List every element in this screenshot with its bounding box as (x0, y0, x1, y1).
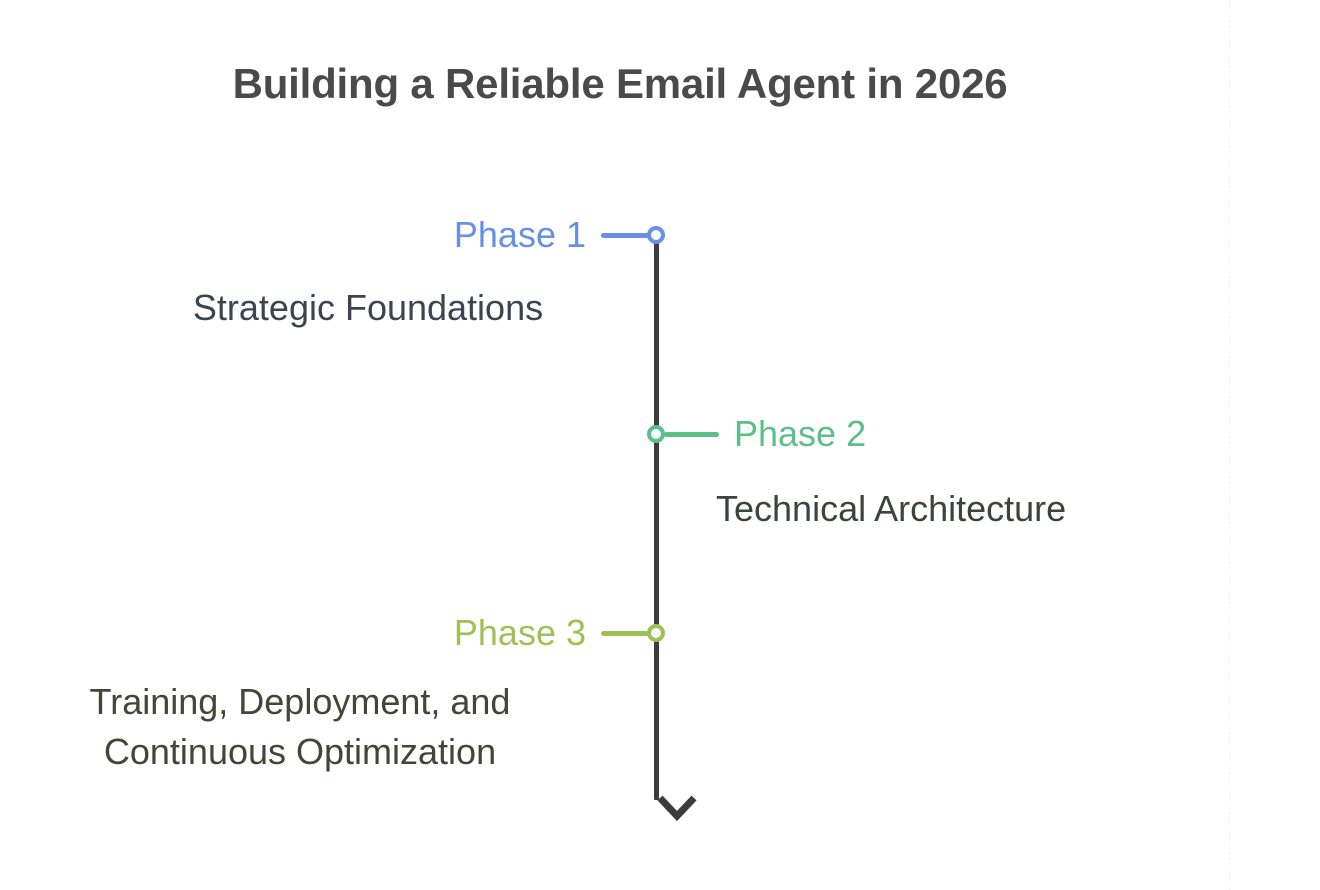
milestone-description-1: Strategic Foundations (88, 283, 648, 333)
milestone-label-3: Phase 3 (454, 608, 586, 658)
timeline-axis-line (654, 235, 659, 800)
milestone-description-3: Training, Deployment, and Continuous Opt… (20, 677, 580, 777)
canvas-edge-guide (1229, 0, 1230, 890)
milestone-marker-1[interactable] (647, 226, 665, 244)
milestone-description-1-line-1: Strategic Foundations (88, 283, 648, 333)
milestone-description-3-line-2: Continuous Optimization (20, 727, 580, 777)
milestone-label-1: Phase 1 (454, 210, 586, 260)
milestone-description-2: Technical Architecture (716, 484, 1276, 534)
milestone-label-2: Phase 2 (734, 409, 866, 459)
milestone-description-3-line-1: Training, Deployment, and (20, 677, 580, 727)
milestone-marker-2[interactable] (647, 425, 665, 443)
timeline-canvas: Building a Reliable Email Agent in 2026 … (0, 0, 1320, 890)
page-title: Building a Reliable Email Agent in 2026 (0, 60, 1240, 108)
milestone-description-2-line-1: Technical Architecture (716, 484, 1276, 534)
milestone-marker-3[interactable] (647, 624, 665, 642)
milestone-connector-2 (664, 432, 719, 437)
